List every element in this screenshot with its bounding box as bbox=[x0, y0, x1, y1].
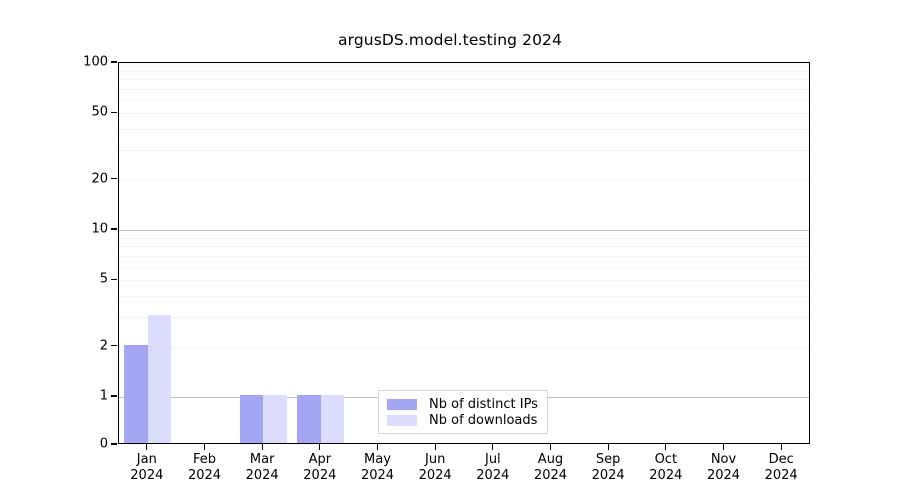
y-tick-label-0: 0 bbox=[62, 438, 108, 451]
x-tick-mark-jan bbox=[146, 444, 147, 450]
bar-apr-downloads bbox=[321, 395, 345, 443]
gridline-3 bbox=[119, 317, 809, 318]
x-tick-mark-dec bbox=[781, 444, 782, 450]
x-tick-mark-aug bbox=[550, 444, 551, 450]
legend-swatch-downloads bbox=[387, 415, 417, 426]
y-tick-mark-0 bbox=[111, 443, 117, 444]
gridline-60 bbox=[119, 100, 809, 101]
gridline-100 bbox=[119, 63, 809, 64]
y-tick-mark-10 bbox=[111, 228, 117, 229]
bar-apr-distinct-ips bbox=[297, 395, 321, 443]
y-tick-mark-5 bbox=[111, 279, 117, 280]
bar-jan-downloads bbox=[148, 315, 172, 443]
gridline-10 bbox=[119, 230, 809, 231]
y-tick-label-5: 5 bbox=[62, 273, 108, 286]
y-tick-mark-1 bbox=[111, 395, 117, 396]
legend-label-downloads: Nb of downloads bbox=[429, 413, 537, 428]
gridline-6 bbox=[119, 267, 809, 268]
x-tick-mark-feb bbox=[204, 444, 205, 450]
gridline-2 bbox=[119, 347, 809, 348]
gridline-8 bbox=[119, 246, 809, 247]
x-tick-mark-jul bbox=[492, 444, 493, 450]
legend-label-distinct-ips: Nb of distinct IPs bbox=[429, 397, 538, 412]
legend-item: Nb of downloads bbox=[387, 412, 538, 428]
y-tick-mark-100 bbox=[111, 61, 117, 62]
x-tick-mark-sep bbox=[608, 444, 609, 450]
bar-mar-distinct-ips bbox=[240, 395, 264, 443]
y-tick-mark-50 bbox=[111, 112, 117, 113]
x-tick-mark-nov bbox=[723, 444, 724, 450]
gridline-30 bbox=[119, 150, 809, 151]
gridline-20 bbox=[119, 180, 809, 181]
plot-area bbox=[118, 62, 810, 444]
x-tick-month: Dec bbox=[746, 452, 816, 468]
gridline-5 bbox=[119, 280, 809, 281]
y-tick-label-1: 1 bbox=[62, 390, 108, 403]
x-tick-label-dec: Dec2024 bbox=[746, 452, 816, 484]
gridline-7 bbox=[119, 256, 809, 257]
chart-title: argusDS.model.testing 2024 bbox=[0, 31, 900, 49]
gridline-9 bbox=[119, 238, 809, 239]
bar-mar-downloads bbox=[263, 395, 287, 443]
gridline-4 bbox=[119, 296, 809, 297]
gridline-80 bbox=[119, 79, 809, 80]
x-tick-mark-mar bbox=[262, 444, 263, 450]
chart-container: argusDS.model.testing 2024 0125102050100… bbox=[0, 0, 900, 500]
y-tick-label-20: 20 bbox=[62, 172, 108, 185]
chart-legend: Nb of distinct IPs Nb of downloads bbox=[378, 390, 548, 434]
legend-swatch-distinct-ips bbox=[387, 399, 417, 410]
bar-jan-distinct-ips bbox=[124, 345, 148, 443]
x-tick-mark-may bbox=[377, 444, 378, 450]
gridline-70 bbox=[119, 89, 809, 90]
gridline-50 bbox=[119, 113, 809, 114]
gridline-90 bbox=[119, 71, 809, 72]
y-tick-label-100: 100 bbox=[62, 56, 108, 69]
y-tick-label-50: 50 bbox=[62, 106, 108, 119]
x-tick-year: 2024 bbox=[746, 468, 816, 484]
y-tick-label-10: 10 bbox=[62, 223, 108, 236]
gridline-40 bbox=[119, 129, 809, 130]
x-tick-mark-oct bbox=[665, 444, 666, 450]
x-tick-mark-apr bbox=[319, 444, 320, 450]
y-axis bbox=[58, 0, 118, 500]
y-tick-mark-20 bbox=[111, 178, 117, 179]
legend-item: Nb of distinct IPs bbox=[387, 396, 538, 412]
x-tick-mark-jun bbox=[435, 444, 436, 450]
y-tick-mark-2 bbox=[111, 345, 117, 346]
y-tick-label-2: 2 bbox=[62, 339, 108, 352]
